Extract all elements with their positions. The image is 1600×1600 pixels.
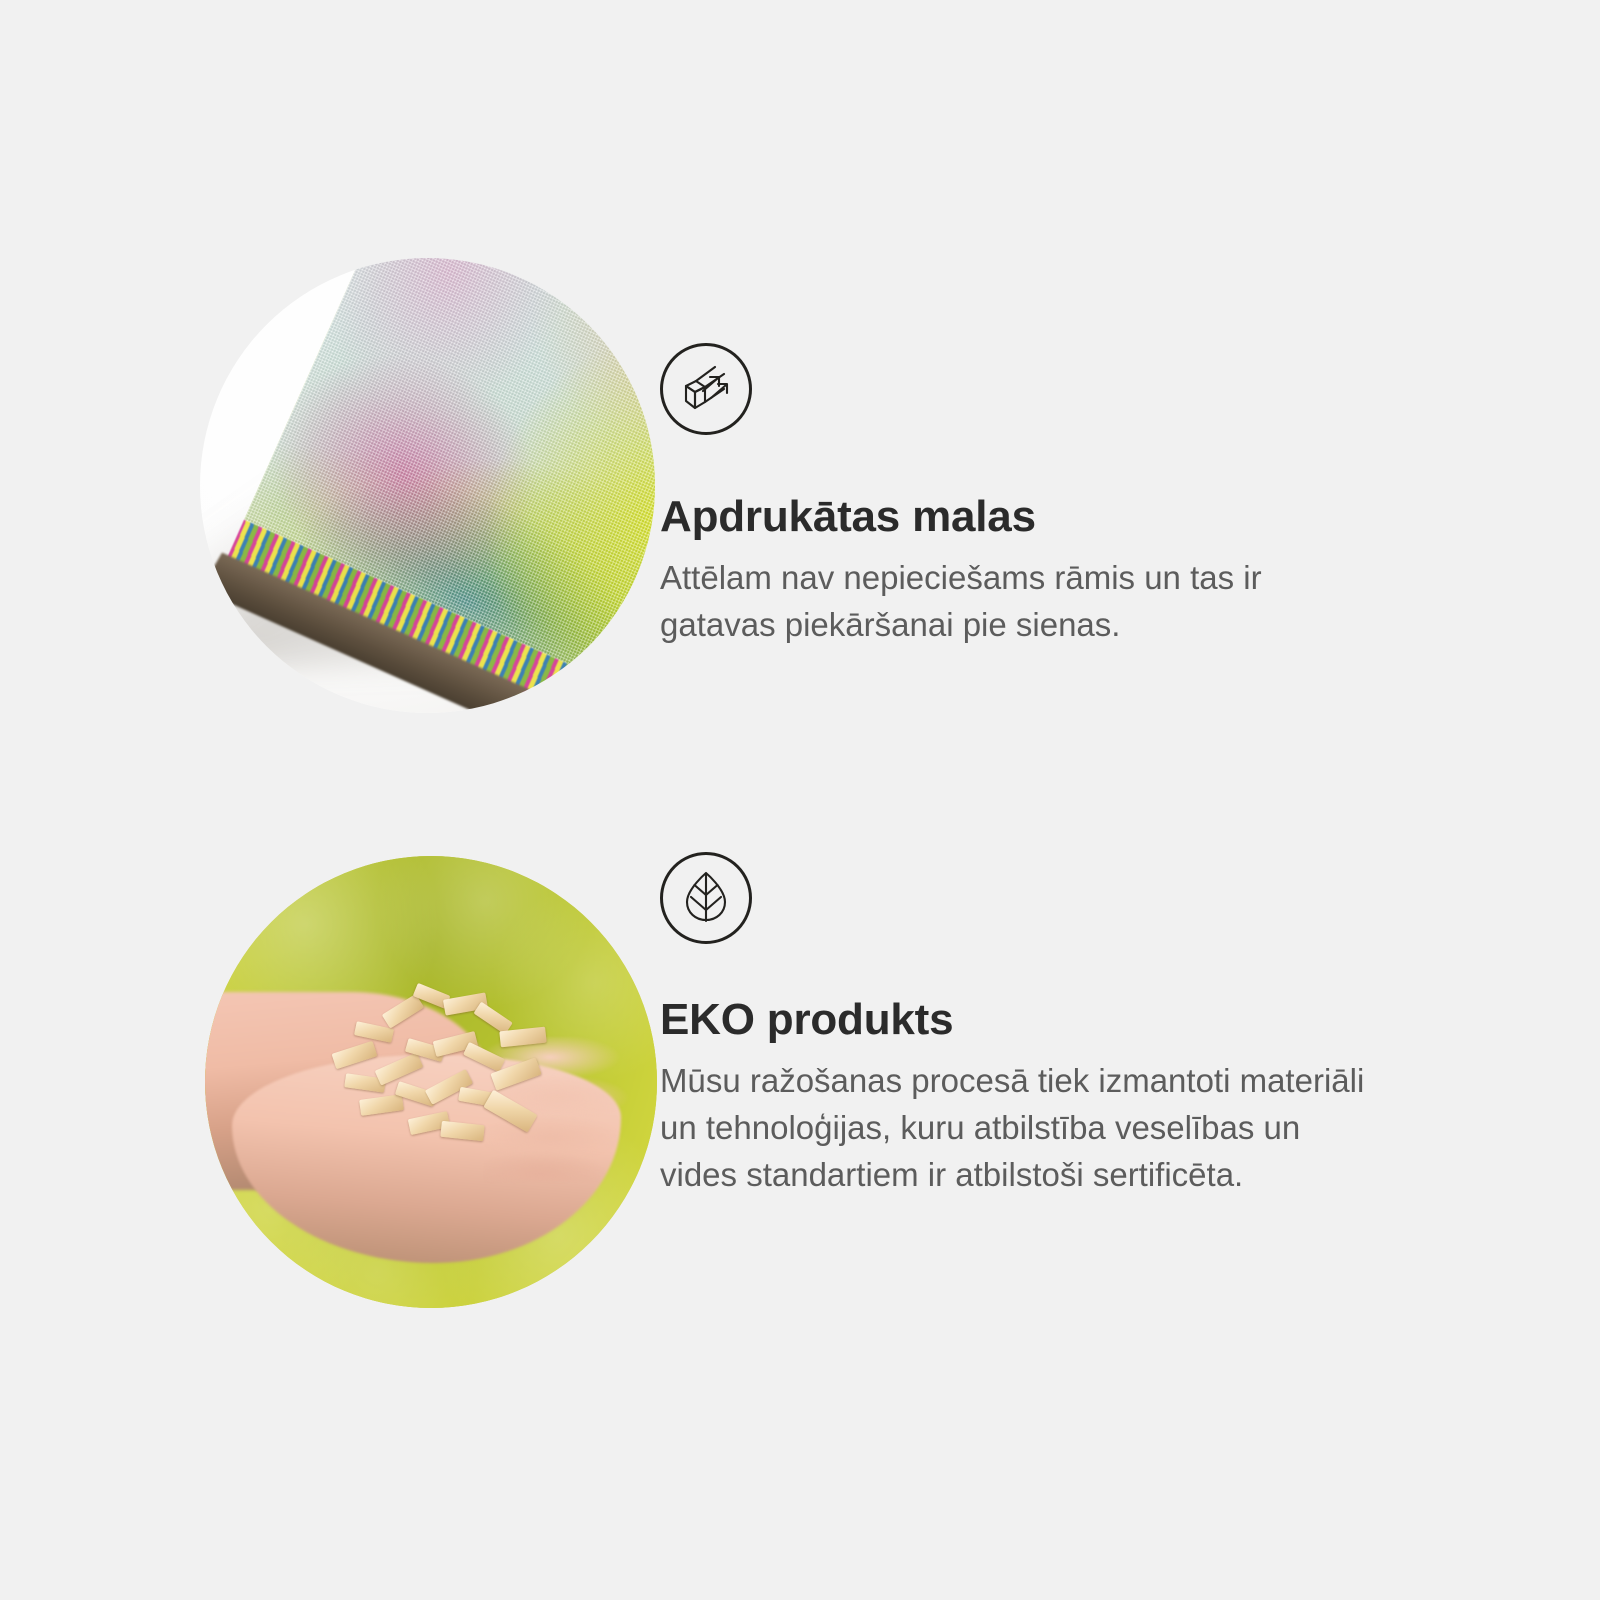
leaf-icon xyxy=(678,868,734,929)
feature-description: Mūsu ražošanas procesā tiek izmantoti ma… xyxy=(660,1058,1378,1199)
eco-icon-badge xyxy=(660,852,752,944)
eco-media xyxy=(0,852,660,1322)
eco-text: EKO produkts Mūsu ražošanas procesā tiek… xyxy=(660,852,1600,1199)
feature-title: Apdrukātas malas xyxy=(660,493,1600,541)
wood-chips xyxy=(323,978,576,1159)
feature-description: Attēlam nav nepieciešams rāmis un tas ir… xyxy=(660,555,1385,649)
printed-edges-icon xyxy=(677,358,735,421)
features-page: Apdrukātas malas Attēlam nav nepieciešam… xyxy=(0,0,1600,1600)
feature-title: EKO produkts xyxy=(660,996,1600,1044)
printed-edges-icon-badge xyxy=(660,343,752,435)
printed-edges-text: Apdrukātas malas Attēlam nav nepieciešam… xyxy=(660,250,1600,649)
feature-eco: EKO produkts Mūsu ražošanas procesā tiek… xyxy=(0,852,1600,1322)
wood-chips-photo xyxy=(205,856,657,1308)
feature-printed-edges: Apdrukātas malas Attēlam nav nepieciešam… xyxy=(0,250,1600,720)
canvas-corner-photo xyxy=(200,258,655,713)
printed-edges-media xyxy=(0,250,660,720)
